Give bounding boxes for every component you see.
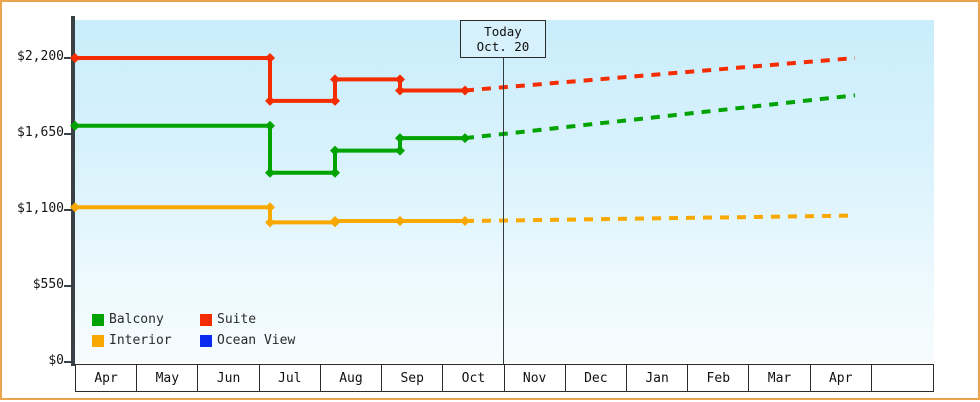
legend-label: Interior — [109, 333, 172, 348]
series-line-forecast — [465, 95, 855, 138]
series-data-point[interactable] — [395, 133, 405, 143]
x-axis-month-cell[interactable]: May — [137, 365, 198, 391]
series-data-point[interactable] — [265, 53, 275, 63]
x-axis-month-cell[interactable]: Jan — [627, 365, 688, 391]
series-data-point[interactable] — [330, 96, 340, 106]
legend-swatch-icon — [200, 335, 212, 347]
legend-item[interactable]: Interior — [92, 333, 200, 348]
series-data-point[interactable] — [330, 168, 340, 178]
x-axis-month-cell[interactable]: Mar — [749, 365, 810, 391]
x-axis-month-cell[interactable]: Oct — [443, 365, 504, 391]
x-axis-month-cell[interactable]: Feb — [688, 365, 749, 391]
chart-frame: $2,200$1,650$1,100$550$0 Today Oct. 20 B… — [0, 0, 980, 400]
legend-label: Ocean View — [217, 333, 295, 348]
series-data-point[interactable] — [330, 146, 340, 156]
legend-label: Suite — [217, 312, 256, 327]
legend-item[interactable]: Suite — [200, 312, 308, 327]
series-data-point[interactable] — [70, 121, 80, 131]
today-vertical-line — [503, 20, 504, 364]
x-axis-month-cell[interactable]: Aug — [321, 365, 382, 391]
series-data-point[interactable] — [330, 74, 340, 84]
x-axis-month-cell[interactable]: Dec — [566, 365, 627, 391]
legend-swatch-icon — [92, 314, 104, 326]
x-axis-month-cell[interactable]: Jun — [198, 365, 259, 391]
today-label-title: Today — [484, 24, 522, 39]
x-axis-month-strip: AprMayJunJulAugSepOctNovDecJanFebMarApr — [75, 364, 934, 392]
series-line-forecast — [465, 216, 855, 222]
series-data-point[interactable] — [70, 202, 80, 212]
today-label-date: Oct. 20 — [477, 39, 530, 54]
chart-legend: BalconySuiteInteriorOcean View — [92, 312, 308, 348]
legend-item[interactable]: Balcony — [92, 312, 200, 327]
series-line-historical — [75, 126, 465, 173]
x-axis-month-cell[interactable]: Sep — [382, 365, 443, 391]
series-data-point[interactable] — [395, 85, 405, 95]
series-data-point[interactable] — [265, 202, 275, 212]
x-axis-month-cell[interactable]: Apr — [76, 365, 137, 391]
series-data-point[interactable] — [265, 96, 275, 106]
legend-swatch-icon — [200, 314, 212, 326]
legend-swatch-icon — [92, 335, 104, 347]
series-data-point[interactable] — [265, 168, 275, 178]
series-line-historical — [75, 58, 465, 101]
series-data-point[interactable] — [265, 121, 275, 131]
series-data-point[interactable] — [70, 53, 80, 63]
series-data-point[interactable] — [395, 74, 405, 84]
series-data-point[interactable] — [265, 217, 275, 227]
x-axis-month-cell[interactable]: Apr — [811, 365, 872, 391]
series-data-point[interactable] — [330, 216, 340, 226]
legend-label: Balcony — [109, 312, 164, 327]
x-axis-month-cell[interactable] — [872, 365, 933, 391]
x-axis-month-cell[interactable]: Nov — [505, 365, 566, 391]
x-axis-month-cell[interactable]: Jul — [260, 365, 321, 391]
series-line-forecast — [465, 58, 855, 90]
series-data-point[interactable] — [395, 216, 405, 226]
today-label-box: Today Oct. 20 — [460, 20, 546, 58]
legend-item[interactable]: Ocean View — [200, 333, 308, 348]
series-data-point[interactable] — [395, 146, 405, 156]
